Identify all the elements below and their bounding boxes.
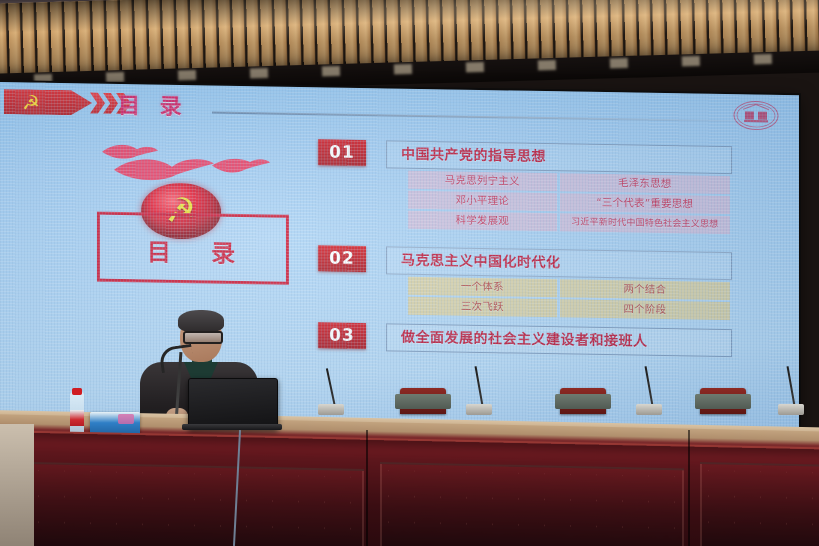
chair-pad [695,394,751,409]
section-01-items: 马克思列宁主义 毛泽东思想 邓小平理论 “三个代表”重要思想 科学发展观 习近平… [386,170,730,234]
list-item: 毛泽东思想 [560,173,731,194]
led-screen: ☭ 目 录 ☭ [0,82,799,431]
water-bottle-cap [72,388,82,395]
microphone-base [636,404,662,415]
section-title-box-03: 做全面发展的社会主义建设者和接班人 [386,323,732,357]
slide-title: 目 录 [118,88,188,121]
desk-panel [30,462,364,546]
chevron-right-icon [103,93,118,114]
chair-pad [555,394,611,409]
presenter-glasses [183,331,223,344]
section-title-02: 马克思主义中国化时代化 [387,247,731,279]
section-number-02: 02 [318,245,366,272]
desk-panel-pattern [38,470,356,546]
desk-panel [380,462,684,546]
section-number-03: 03 [318,322,366,349]
conference-room-photo: ☭ 目 录 ☭ [0,0,819,546]
list-item: 四个阶段 [560,299,731,320]
title-divider [212,112,772,123]
hammer-sickle-icon: ☭ [22,92,62,113]
desk-panel-pattern [708,470,819,543]
list-item: 科学发展观 [408,211,557,231]
list-item: 两个结合 [560,279,731,300]
contents-label: 目 录 [120,232,262,269]
desk-seam [366,430,368,546]
slide-content: ☭ 目 录 ☭ [0,82,799,431]
list-item: 三次飞跃 [408,297,557,317]
list-item: 一个体系 [408,277,557,297]
desk-panel-pattern [388,470,676,546]
list-item: “三个代表”重要思想 [560,193,731,214]
desk-panel [700,462,819,546]
section-title-03: 做全面发展的社会主义建设者和接班人 [387,324,731,356]
chair-pad [395,394,451,409]
section-number-01: 01 [318,139,366,166]
water-bottle-label [70,410,84,426]
floor-left [0,424,34,546]
university-seal-icon [731,98,781,133]
microphone-base [466,404,492,415]
list-item: 邓小平理论 [408,191,557,211]
section-title-box-01: 中国共产党的指导思想 [386,140,732,174]
chevron-right-icon [90,92,105,113]
tissue-sheet [118,414,134,424]
laptop [188,378,278,430]
laptop-base [182,424,282,430]
list-item: 马克思列宁主义 [408,171,557,191]
section-title-01: 中国共产党的指导思想 [387,141,731,173]
presenter-hair [178,310,224,332]
microphone-base [778,404,804,415]
section-02-items: 一个体系 两个结合 三次飞跃 四个阶段 [386,276,730,320]
section-title-box-02: 马克思主义中国化时代化 [386,246,732,280]
microphone-base [318,404,344,415]
desk-seam [688,430,690,546]
list-item: 习近平新时代中国特色社会主义思想 [560,213,731,234]
